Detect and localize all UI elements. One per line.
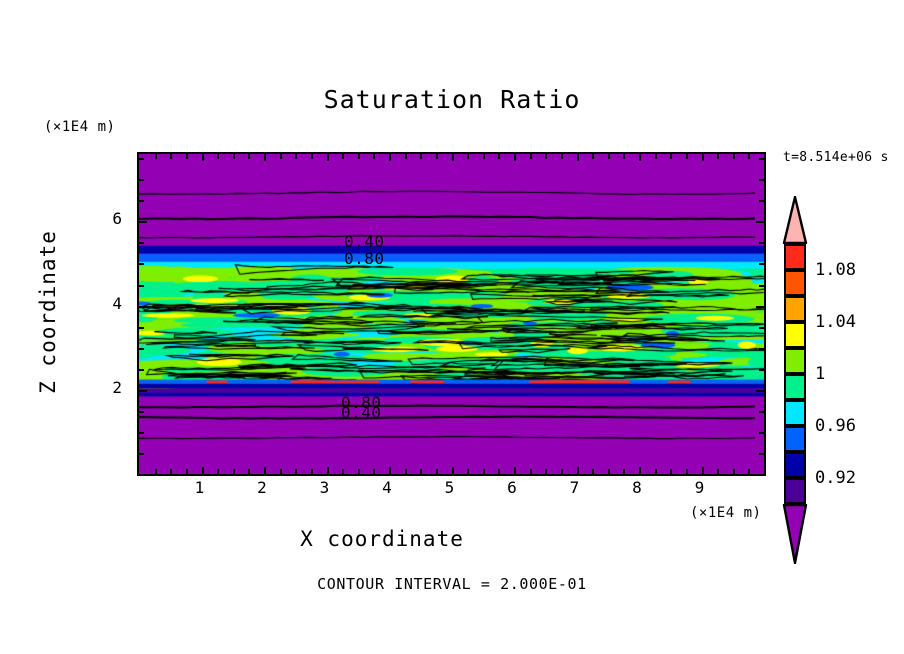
colorbar-band[interactable] — [784, 322, 806, 348]
y-axis-tick-labels: 246 — [0, 0, 904, 654]
y-tick-label: 6 — [96, 209, 122, 228]
colorbar-tick-label: 1.08 — [815, 260, 856, 280]
colorbar-band[interactable] — [784, 296, 806, 322]
colorbar-band[interactable] — [784, 400, 806, 426]
y-tick-label: 4 — [96, 294, 122, 313]
colorbar-tick-label: 0.92 — [815, 468, 856, 488]
colorbar-tick-label: 1.04 — [815, 312, 856, 332]
colorbar-tick-label: 0.96 — [815, 416, 856, 436]
y-tick-label: 2 — [96, 378, 122, 397]
colorbar-over-cap — [781, 196, 809, 244]
colorbar-tick-label: 1 — [815, 364, 825, 384]
colorbar[interactable]: 1.081.0410.960.92 — [781, 196, 807, 529]
contour-interval-note: CONTOUR INTERVAL = 2.000E-01 — [0, 575, 904, 593]
colorbar-band[interactable] — [784, 426, 806, 452]
x-axis-title: X coordinate — [0, 527, 764, 551]
colorbar-band[interactable] — [784, 374, 806, 400]
colorbar-band[interactable] — [784, 348, 806, 374]
colorbar-band[interactable] — [784, 452, 806, 478]
colorbar-under-cap — [781, 504, 809, 564]
colorbar-band[interactable] — [784, 478, 806, 504]
y-axis-title: Z coordinate — [36, 202, 60, 422]
colorbar-band[interactable] — [784, 270, 806, 296]
colorbar-band[interactable] — [784, 244, 806, 270]
